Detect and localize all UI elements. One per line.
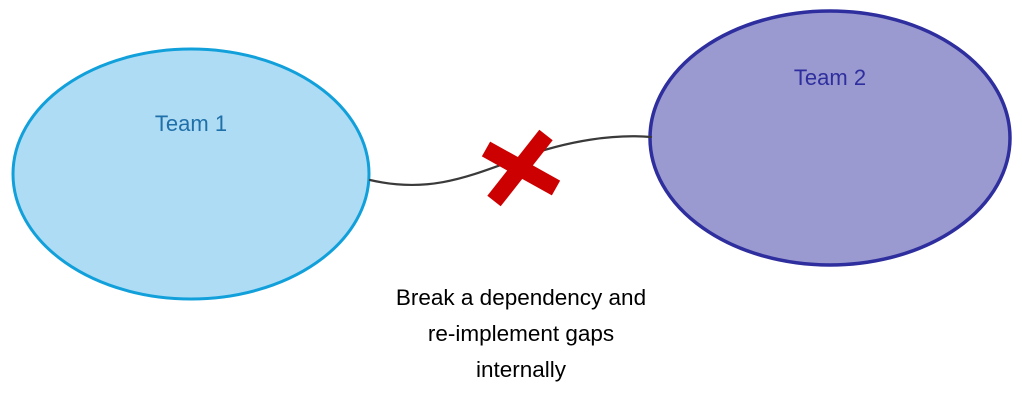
diagram-canvas: Team 1 Team 2 Break a dependency and re-…	[0, 0, 1022, 403]
caption-line-3: internally	[476, 357, 567, 382]
break-x-icon	[486, 135, 556, 201]
break-x-bar-steep	[494, 135, 546, 201]
caption-line-1: Break a dependency and	[396, 285, 646, 310]
team1-ellipse[interactable]	[13, 49, 369, 299]
team1-label: Team 1	[155, 111, 227, 136]
team2-label: Team 2	[794, 65, 866, 90]
caption-line-2: re-implement gaps	[428, 321, 614, 346]
node-team2[interactable]: Team 2	[650, 11, 1010, 265]
team-dependency-diagram: Team 1 Team 2 Break a dependency and re-…	[0, 0, 1022, 403]
team2-ellipse[interactable]	[650, 11, 1010, 265]
node-team1[interactable]: Team 1	[13, 49, 369, 299]
caption: Break a dependency and re-implement gaps…	[396, 285, 646, 382]
